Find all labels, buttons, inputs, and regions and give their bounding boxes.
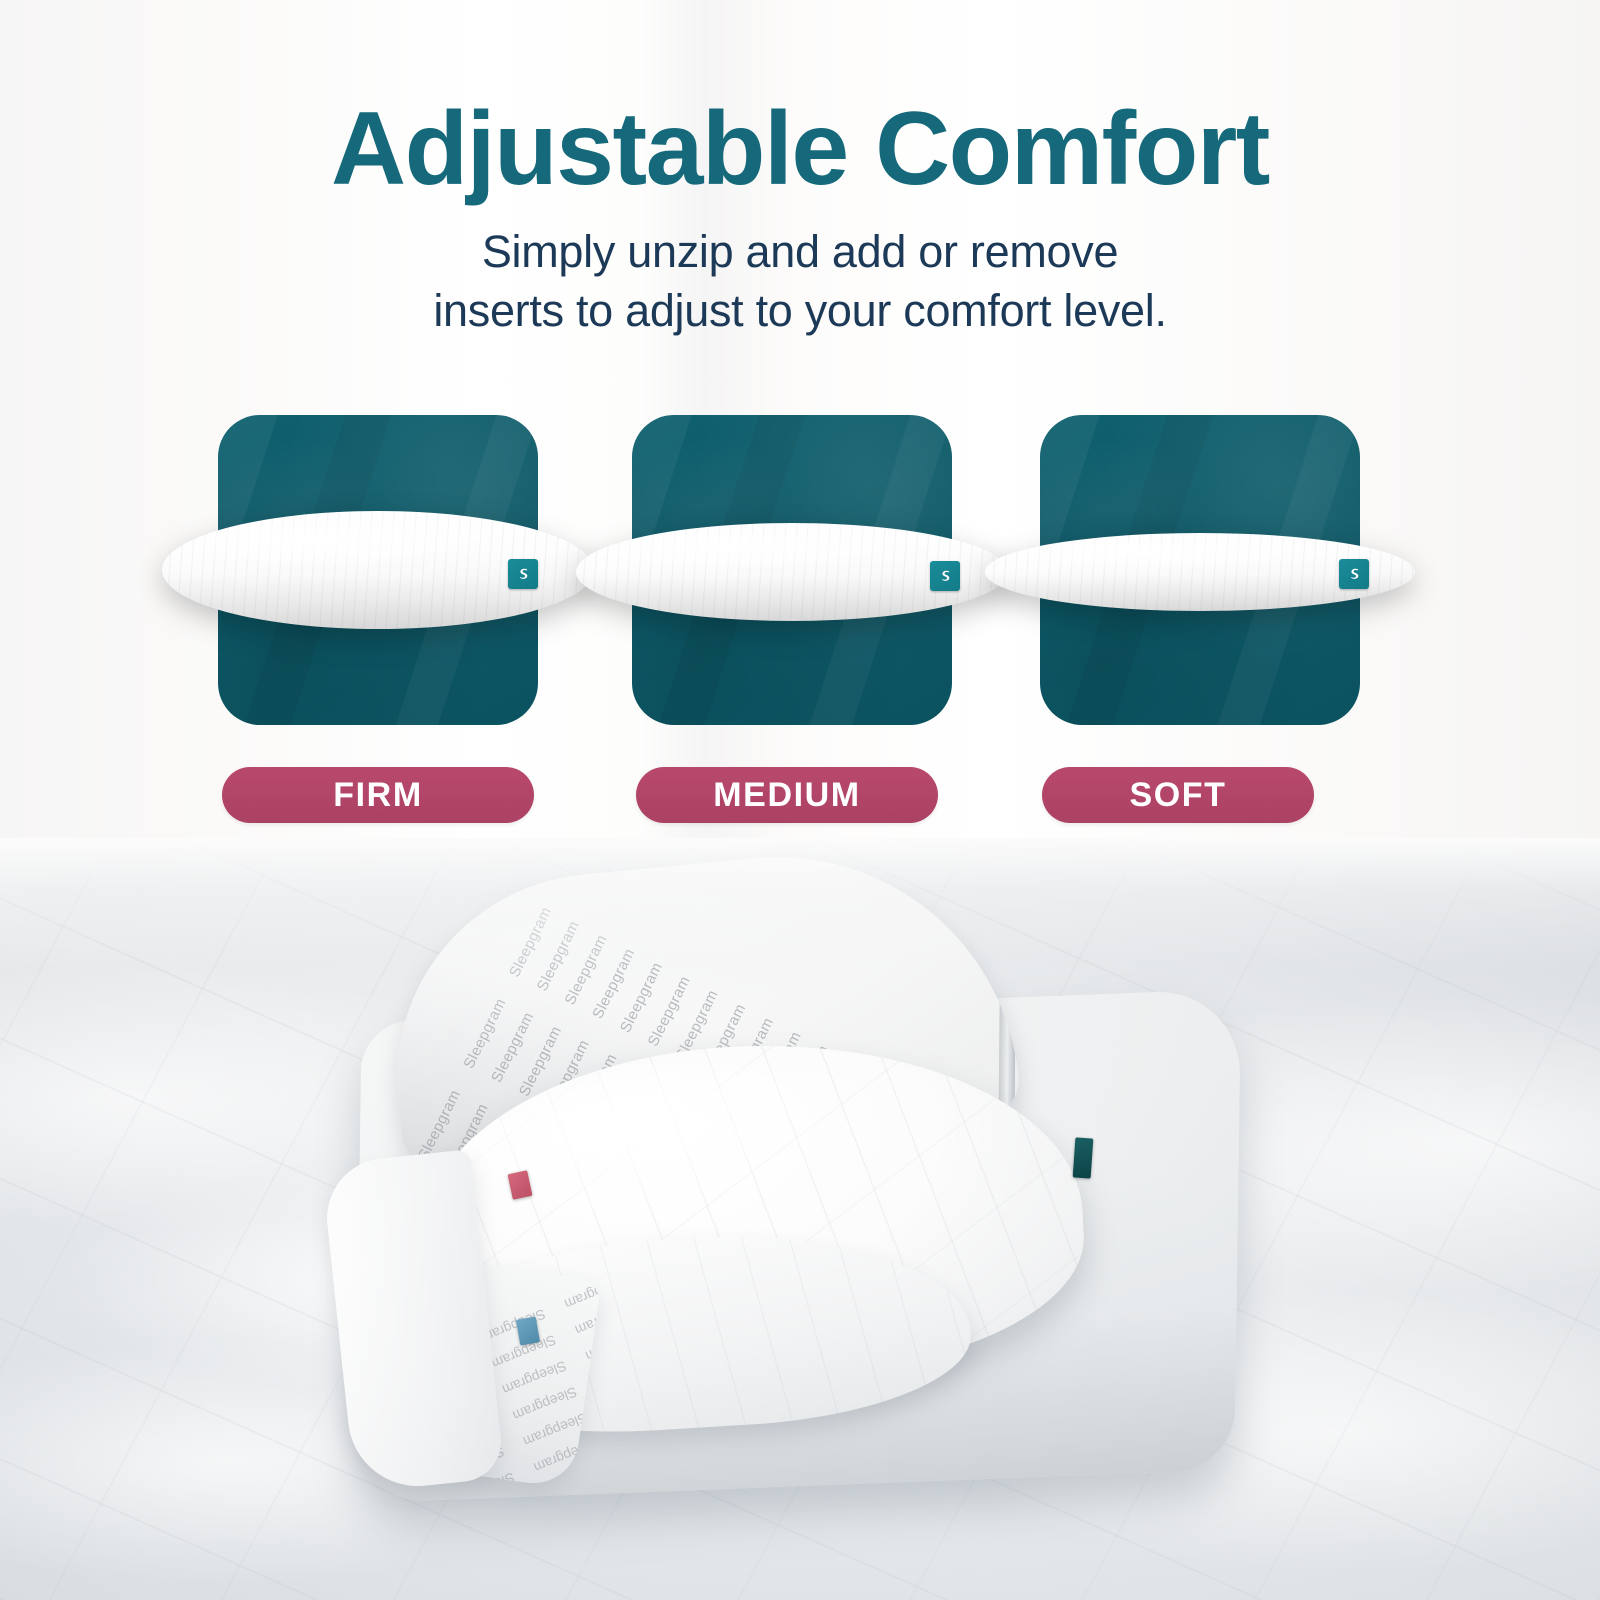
firmness-label-firm[interactable]: FIRM [222,767,534,823]
subtitle-line-1: Simply unzip and add or remove [0,222,1600,281]
pillow-icon-firm [162,511,594,629]
firmness-card-row: FIRM MEDIUM SOFT [0,415,1600,840]
firmness-label-medium[interactable]: MEDIUM [636,767,938,823]
photo-vignette [0,838,1600,1600]
sleepgram-s-logo-icon [1339,559,1369,589]
infographic-page: Adjustable Comfort Simply unzip and add … [0,0,1600,1600]
subtitle-line-2: inserts to adjust to your comfort level. [0,281,1600,340]
product-photo: SleepgramSleepgramSleepgramSleepgramSlee… [0,838,1600,1600]
page-title-wrap: Adjustable Comfort [0,96,1600,202]
firmness-label-medium-text: MEDIUM [713,776,860,815]
firmness-label-firm-text: FIRM [333,776,423,815]
pillow-icon-medium [576,523,1008,621]
pillow-icon-soft [985,533,1415,611]
sleepgram-s-logo-icon [508,559,538,589]
page-title: Adjustable Comfort [0,96,1600,202]
firmness-label-soft-text: SOFT [1129,776,1226,815]
firmness-card-medium[interactable] [632,415,952,725]
page-subtitle: Simply unzip and add or remove inserts t… [0,222,1600,341]
firmness-label-soft[interactable]: SOFT [1042,767,1314,823]
firmness-card-firm[interactable] [218,415,538,725]
firmness-card-soft[interactable] [1040,415,1360,725]
sleepgram-s-logo-icon [930,561,960,591]
